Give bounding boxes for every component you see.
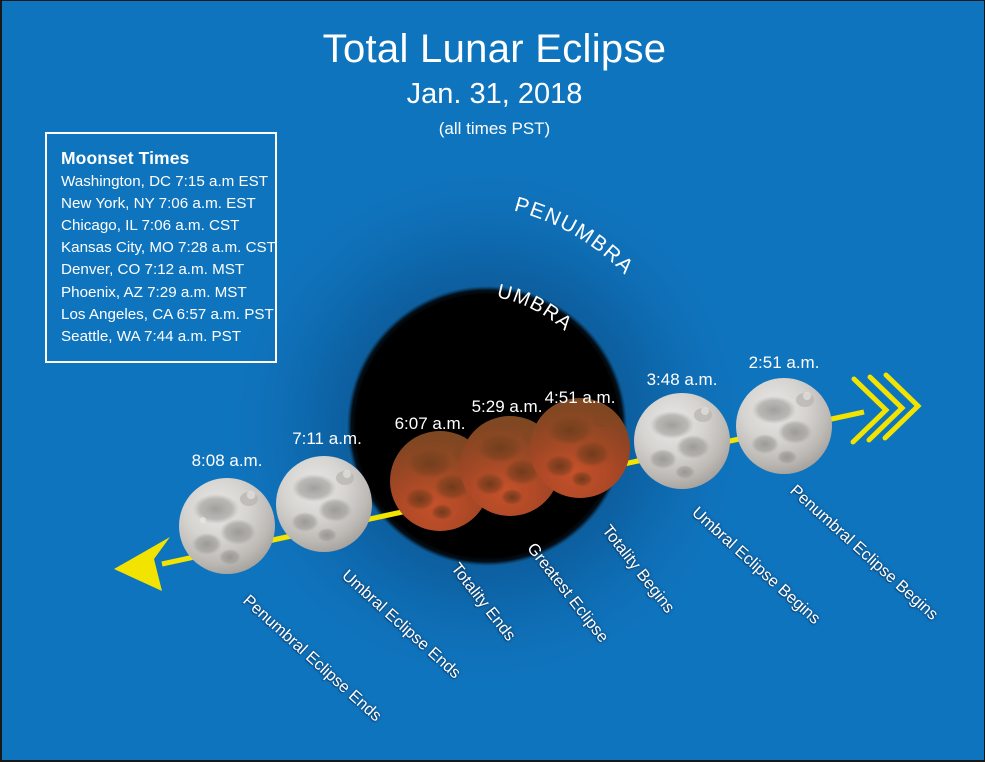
list-item: Kansas City, MO 7:28 a.m. CST xyxy=(61,237,263,259)
moonset-times-list: Washington, DC 7:15 a.m EST New York, NY… xyxy=(61,171,263,348)
eclipse-diagram-canvas: PENUMBRA UMBRA xyxy=(2,1,985,762)
list-item: Chicago, IL 7:06 a.m. CST xyxy=(61,215,263,237)
list-item: New York, NY 7:06 a.m. EST xyxy=(61,193,263,215)
arrow-fletching-right-icon xyxy=(853,375,918,442)
moon-phase-0348 xyxy=(634,393,730,489)
list-item: Phoenix, AZ 7:29 a.m. MST xyxy=(61,282,263,304)
moonset-times-heading: Moonset Times xyxy=(61,148,263,169)
list-item: Seattle, WA 7:44 a.m. PST xyxy=(61,326,263,348)
moon-phase-0711 xyxy=(276,456,372,552)
list-item: Washington, DC 7:15 a.m EST xyxy=(61,171,263,193)
moon-phase-0808 xyxy=(179,478,275,574)
list-item: Denver, CO 7:12 a.m. MST xyxy=(61,259,263,281)
list-item: Los Angeles, CA 6:57 a.m. PST xyxy=(61,304,263,326)
lunar-eclipse-infographic: PENUMBRA UMBRA Total Lunar Eclipse Jan. … xyxy=(0,0,985,762)
moon-phase-0251 xyxy=(736,378,832,474)
arrowhead-left-icon xyxy=(114,537,170,591)
moon-phase-0451 xyxy=(530,398,630,498)
moonset-times-box: Moonset Times Washington, DC 7:15 a.m ES… xyxy=(45,132,277,363)
